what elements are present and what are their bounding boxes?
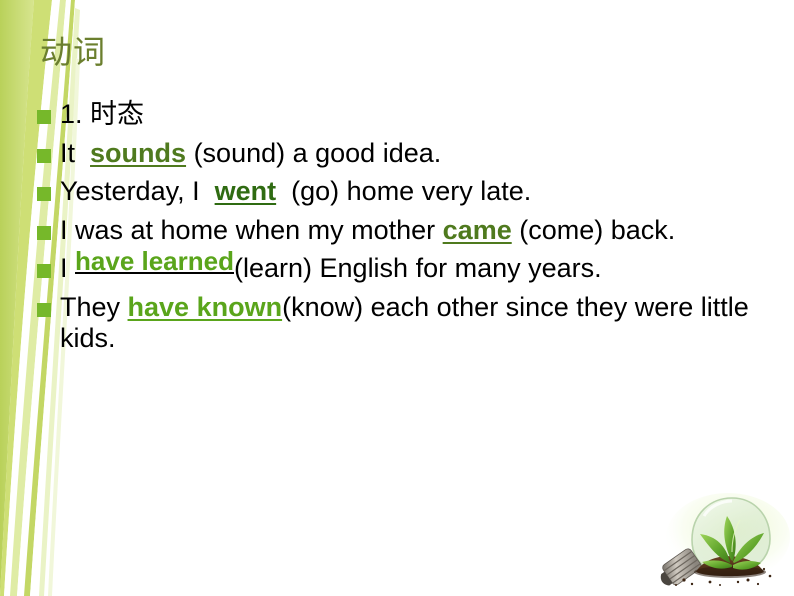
list-item: They have known(know) each other since t…: [36, 292, 788, 355]
blank-underline-left: [83, 138, 91, 168]
answer-have-known: have known: [128, 292, 283, 322]
item-4-before: I was at home when my mother: [60, 215, 443, 245]
lightbulb-plant-icon: [652, 492, 794, 596]
item-3-after: (go) home very late.: [291, 176, 531, 206]
list-item: I have learned(learn) English for many y…: [36, 253, 788, 285]
item-4-after: (come) back.: [519, 215, 675, 245]
answer-blank-wrapper: have learned: [75, 246, 234, 276]
list-item-text: I have learned(learn) English for many y…: [60, 253, 788, 285]
list-item-text: I was at home when my mother came (come)…: [60, 215, 788, 247]
bullet-square-icon: [37, 264, 51, 278]
list-item: It sounds (sound) a good idea.: [36, 138, 788, 170]
item-1-before: 1. 时态: [60, 99, 144, 129]
slide-canvas: 动词 1. 时态 It sounds (sound) a good idea. …: [0, 0, 794, 596]
blank-underline-left: [207, 176, 215, 206]
list-item-text: It sounds (sound) a good idea.: [60, 138, 788, 170]
list-item-text: They have known(know) each other since t…: [60, 292, 788, 355]
item-3-before: Yesterday, I: [60, 176, 207, 206]
list-item: Yesterday, I went (go) home very late.: [36, 176, 788, 208]
answer-went: went: [215, 176, 277, 206]
bullet-square-icon: [37, 149, 51, 163]
blank-underline-right: [186, 138, 194, 168]
list-item: 1. 时态: [36, 99, 788, 131]
item-2-before: It: [60, 138, 83, 168]
bullet-square-icon: [37, 110, 51, 124]
answer-came: came: [443, 215, 512, 245]
bullet-square-icon: [37, 187, 51, 201]
blank-underline-right: [276, 176, 291, 206]
lightbulb-with-sprout-image: [652, 492, 794, 596]
bullet-list: 1. 时态 It sounds (sound) a good idea. Yes…: [36, 99, 788, 362]
bullet-square-icon: [37, 226, 51, 240]
list-item-text: 1. 时态: [60, 99, 788, 131]
item-5-before: I: [60, 253, 75, 283]
answer-have-learned: have learned: [75, 246, 234, 276]
answer-sounds: sounds: [90, 138, 186, 168]
item-6-before: They: [60, 292, 128, 322]
item-5-after: (learn) English for many years.: [234, 253, 602, 283]
page-title: 动词: [40, 34, 106, 71]
list-item: I was at home when my mother came (come)…: [36, 215, 788, 247]
item-2-after: (sound) a good idea.: [194, 138, 442, 168]
bullet-square-icon: [37, 303, 51, 317]
list-item-text: Yesterday, I went (go) home very late.: [60, 176, 788, 208]
